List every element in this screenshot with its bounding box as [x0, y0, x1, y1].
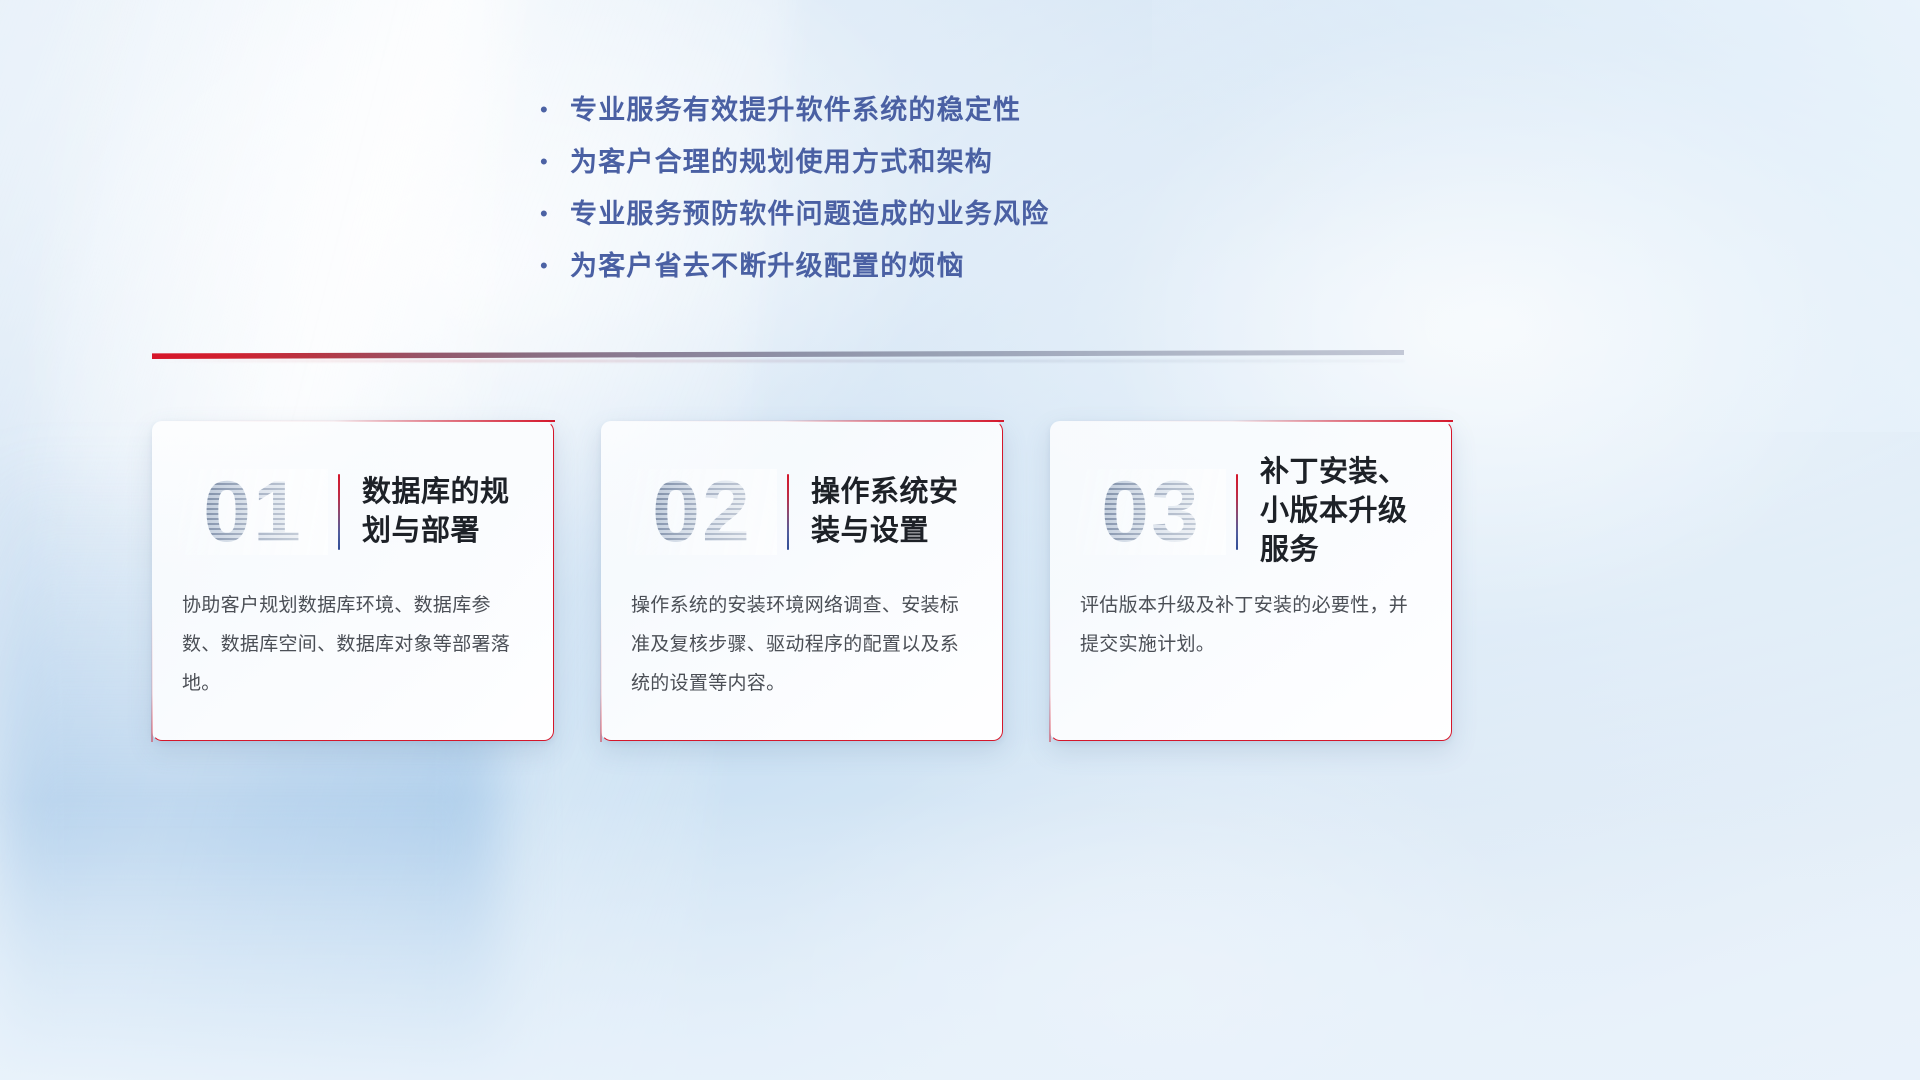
card-title: 操作系统安装与设置 [811, 473, 977, 551]
card-description: 协助客户规划数据库环境、数据库参数、数据库空间、数据库对象等部署落地。 [152, 569, 554, 704]
section-divider [152, 348, 1404, 362]
list-item: • 专业服务预防软件问题造成的业务风险 [540, 192, 1160, 244]
card-header: 01 数据库的规划与部署 [152, 421, 554, 569]
card-divider-bar [338, 474, 340, 550]
card-title: 数据库的规划与部署 [362, 473, 528, 551]
bullet-text: 专业服务有效提升软件系统的稳定性 [570, 88, 1021, 127]
divider-gradient-bar [152, 350, 1404, 359]
card-description: 评估版本升级及补丁安装的必要性，并提交实施计划。 [1050, 569, 1452, 665]
card-header: 03 补丁安装、小版本升级服务 [1050, 421, 1452, 569]
bullet-marker-icon: • [540, 151, 570, 173]
card-number: 02 [627, 469, 777, 555]
card-divider-bar [787, 474, 789, 550]
bullet-text: 为客户省去不断升级配置的烦恼 [570, 244, 965, 283]
card-title: 补丁安装、小版本升级服务 [1260, 453, 1426, 570]
background-tint-bottom [0, 799, 1920, 1080]
list-item: • 为客户省去不断升级配置的烦恼 [540, 244, 1160, 296]
card-divider-bar [1236, 474, 1238, 550]
bullet-marker-icon: • [540, 203, 570, 225]
benefits-bullet-list: • 专业服务有效提升软件系统的稳定性 • 为客户合理的规划使用方式和架构 • 专… [540, 88, 1160, 296]
service-card[interactable]: 02 操作系统安装与设置 操作系统的安装环境网络调查、安装标准及复核步骤、驱动程… [601, 421, 1003, 741]
list-item: • 专业服务有效提升软件系统的稳定性 [540, 88, 1160, 140]
card-description: 操作系统的安装环境网络调查、安装标准及复核步骤、驱动程序的配置以及系统的设置等内… [601, 569, 1003, 704]
service-card[interactable]: 03 补丁安装、小版本升级服务 评估版本升级及补丁安装的必要性，并提交实施计划。 [1050, 421, 1452, 741]
bullet-marker-icon: • [540, 255, 570, 277]
bullet-text: 为客户合理的规划使用方式和架构 [570, 140, 993, 179]
divider-shadow-line [152, 360, 1404, 362]
card-number: 03 [1076, 469, 1226, 555]
list-item: • 为客户合理的规划使用方式和架构 [540, 140, 1160, 192]
service-card[interactable]: 01 数据库的规划与部署 协助客户规划数据库环境、数据库参数、数据库空间、数据库… [152, 421, 554, 741]
background-tint-top-right [1152, 0, 1920, 432]
bullet-text: 专业服务预防软件问题造成的业务风险 [570, 192, 1049, 231]
service-card-list: 01 数据库的规划与部署 协助客户规划数据库环境、数据库参数、数据库空间、数据库… [152, 421, 1452, 741]
bullet-marker-icon: • [540, 99, 570, 121]
card-header: 02 操作系统安装与设置 [601, 421, 1003, 569]
card-number: 01 [178, 469, 328, 555]
